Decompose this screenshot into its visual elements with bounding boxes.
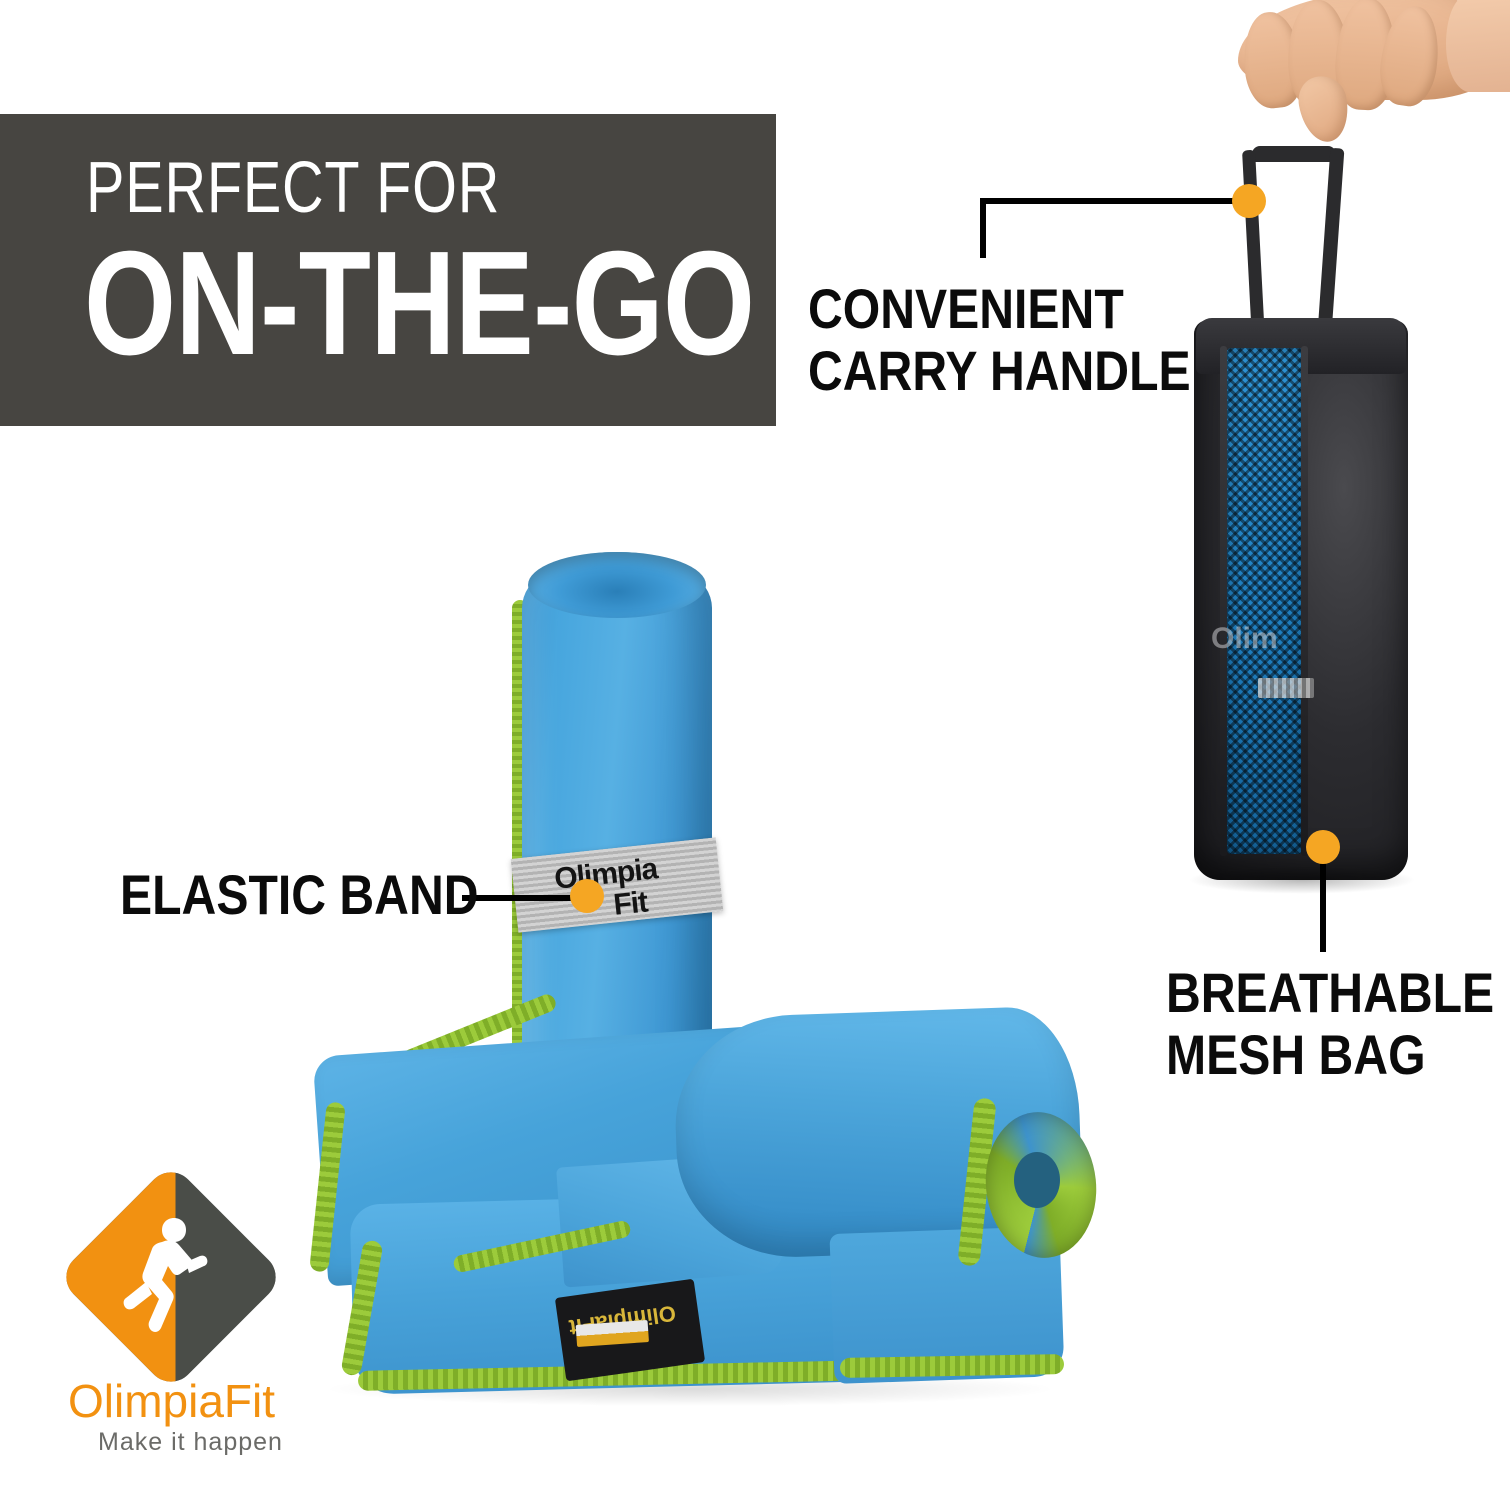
rolled-towel-top-opening bbox=[528, 552, 706, 618]
rolled-towel-horizontal-tail-trim bbox=[840, 1354, 1064, 1378]
leader-line-carry-handle-horizontal bbox=[980, 198, 1246, 204]
carry-handle-strap-left bbox=[1242, 150, 1265, 340]
mesh-panel-seam-left bbox=[1220, 346, 1227, 856]
bag-woven-tag bbox=[1258, 678, 1314, 698]
logo-wordmark: OlimpiaFit bbox=[68, 1374, 368, 1428]
logo-tagline: Make it happen bbox=[98, 1428, 398, 1457]
leader-line-elastic-band bbox=[462, 895, 580, 901]
callout-label-carry-handle: CONVENIENT CARRY HANDLE bbox=[808, 278, 1191, 402]
callout-dot-elastic-band bbox=[570, 879, 604, 913]
callout-dot-mesh-bag bbox=[1306, 830, 1340, 864]
brand-logo: OlimpiaFit Make it happen bbox=[68, 1196, 368, 1458]
runner-icon bbox=[116, 1212, 208, 1352]
carry-handle-strap-right bbox=[1318, 148, 1345, 334]
mesh-panel-seam-right bbox=[1301, 346, 1308, 856]
banner-heading-large: ON-THE-GO bbox=[84, 230, 754, 378]
bag-brand-print: Olim bbox=[1211, 622, 1297, 656]
infographic-canvas: PERFECT FOR ON-THE-GO Olim Olimpia Fit bbox=[0, 0, 1510, 1500]
rolled-towel-spiral-core bbox=[1014, 1152, 1060, 1208]
header-banner: PERFECT FOR ON-THE-GO bbox=[0, 114, 776, 426]
callout-label-elastic-band: ELASTIC BAND bbox=[120, 864, 479, 926]
care-label-logo-mark bbox=[576, 1320, 649, 1347]
callout-label-mesh-bag: BREATHABLE MESH BAG bbox=[1166, 962, 1494, 1086]
callout-dot-carry-handle bbox=[1232, 184, 1266, 218]
carry-handle-strap-top bbox=[1252, 146, 1336, 162]
breathable-mesh-panel bbox=[1227, 348, 1303, 854]
hand-holding-bag-image bbox=[1196, 0, 1510, 174]
leader-line-carry-handle-vertical bbox=[980, 198, 986, 258]
wrist bbox=[1446, 0, 1510, 92]
rolled-towel-body bbox=[522, 552, 712, 1112]
leader-line-mesh-bag bbox=[1320, 864, 1326, 952]
banner-heading-small: PERFECT FOR bbox=[86, 152, 500, 224]
bag-drop-shadow bbox=[1188, 866, 1416, 894]
